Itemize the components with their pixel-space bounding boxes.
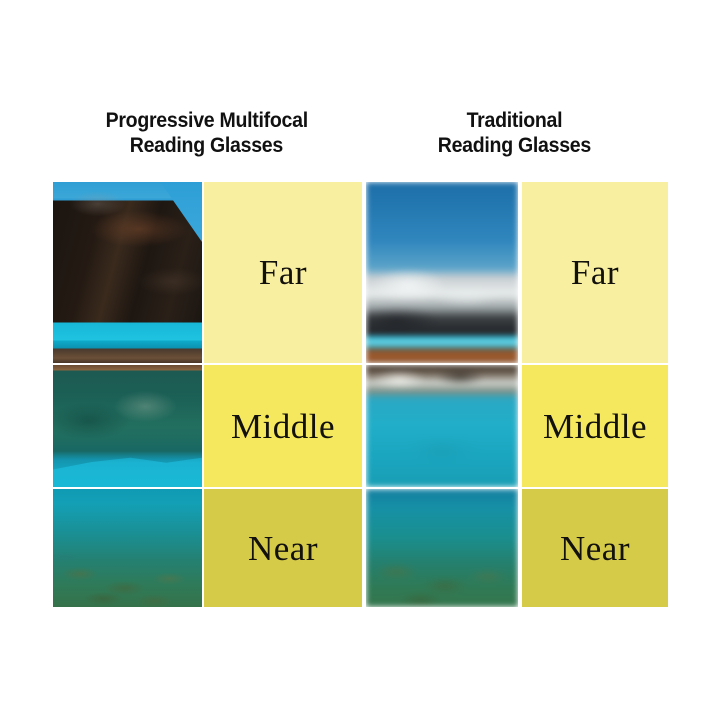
photo-progressive-near: [53, 489, 202, 607]
heading-progressive-multifocal: Progressive Multifocal Reading Glasses: [53, 108, 361, 170]
heading-traditional-line-1: Traditional: [466, 108, 562, 133]
photo-progressive-far: [53, 182, 202, 363]
photo-traditional-far: [366, 182, 518, 363]
grid-row-middle: Middle Middle: [53, 365, 668, 487]
distance-label-progressive-middle: Middle: [231, 409, 335, 444]
blurred-underwater-photo: [366, 489, 518, 607]
comparison-grid: Far Far Middle Middle: [53, 182, 668, 607]
comparison-headings: Progressive Multifocal Reading Glasses T…: [53, 108, 668, 170]
photo-progressive-middle: [53, 365, 202, 487]
distance-label-traditional-far: Far: [571, 255, 619, 290]
distance-label-progressive-far: Far: [259, 255, 307, 290]
sharp-mountain-lake-photo: [53, 182, 202, 363]
grid-row-near: Near Near: [53, 489, 668, 607]
heading-progressive-line-1: Progressive Multifocal: [106, 108, 308, 133]
label-cell-traditional-middle: Middle: [522, 365, 668, 487]
photo-traditional-middle: [366, 365, 518, 487]
blurred-mountain-lake-photo: [366, 182, 518, 363]
label-cell-traditional-far: Far: [522, 182, 668, 363]
distance-label-traditional-middle: Middle: [543, 409, 647, 444]
photo-traditional-near: [366, 489, 518, 607]
sharp-lake-reflection-photo: [53, 365, 202, 487]
label-cell-progressive-middle: Middle: [204, 365, 362, 487]
heading-progressive-line-2: Reading Glasses: [130, 133, 283, 158]
heading-traditional-line-2: Reading Glasses: [438, 133, 591, 158]
sharp-underwater-photo: [53, 489, 202, 607]
distance-label-progressive-near: Near: [248, 531, 318, 566]
label-cell-traditional-near: Near: [522, 489, 668, 607]
reading-glasses-comparison-infographic: Progressive Multifocal Reading Glasses T…: [0, 0, 720, 720]
label-cell-progressive-near: Near: [204, 489, 362, 607]
grid-row-far: Far Far: [53, 182, 668, 363]
heading-traditional: Traditional Reading Glasses: [361, 108, 669, 170]
distance-label-traditional-near: Near: [560, 531, 630, 566]
label-cell-progressive-far: Far: [204, 182, 362, 363]
blurred-lake-reflection-photo: [366, 365, 518, 487]
